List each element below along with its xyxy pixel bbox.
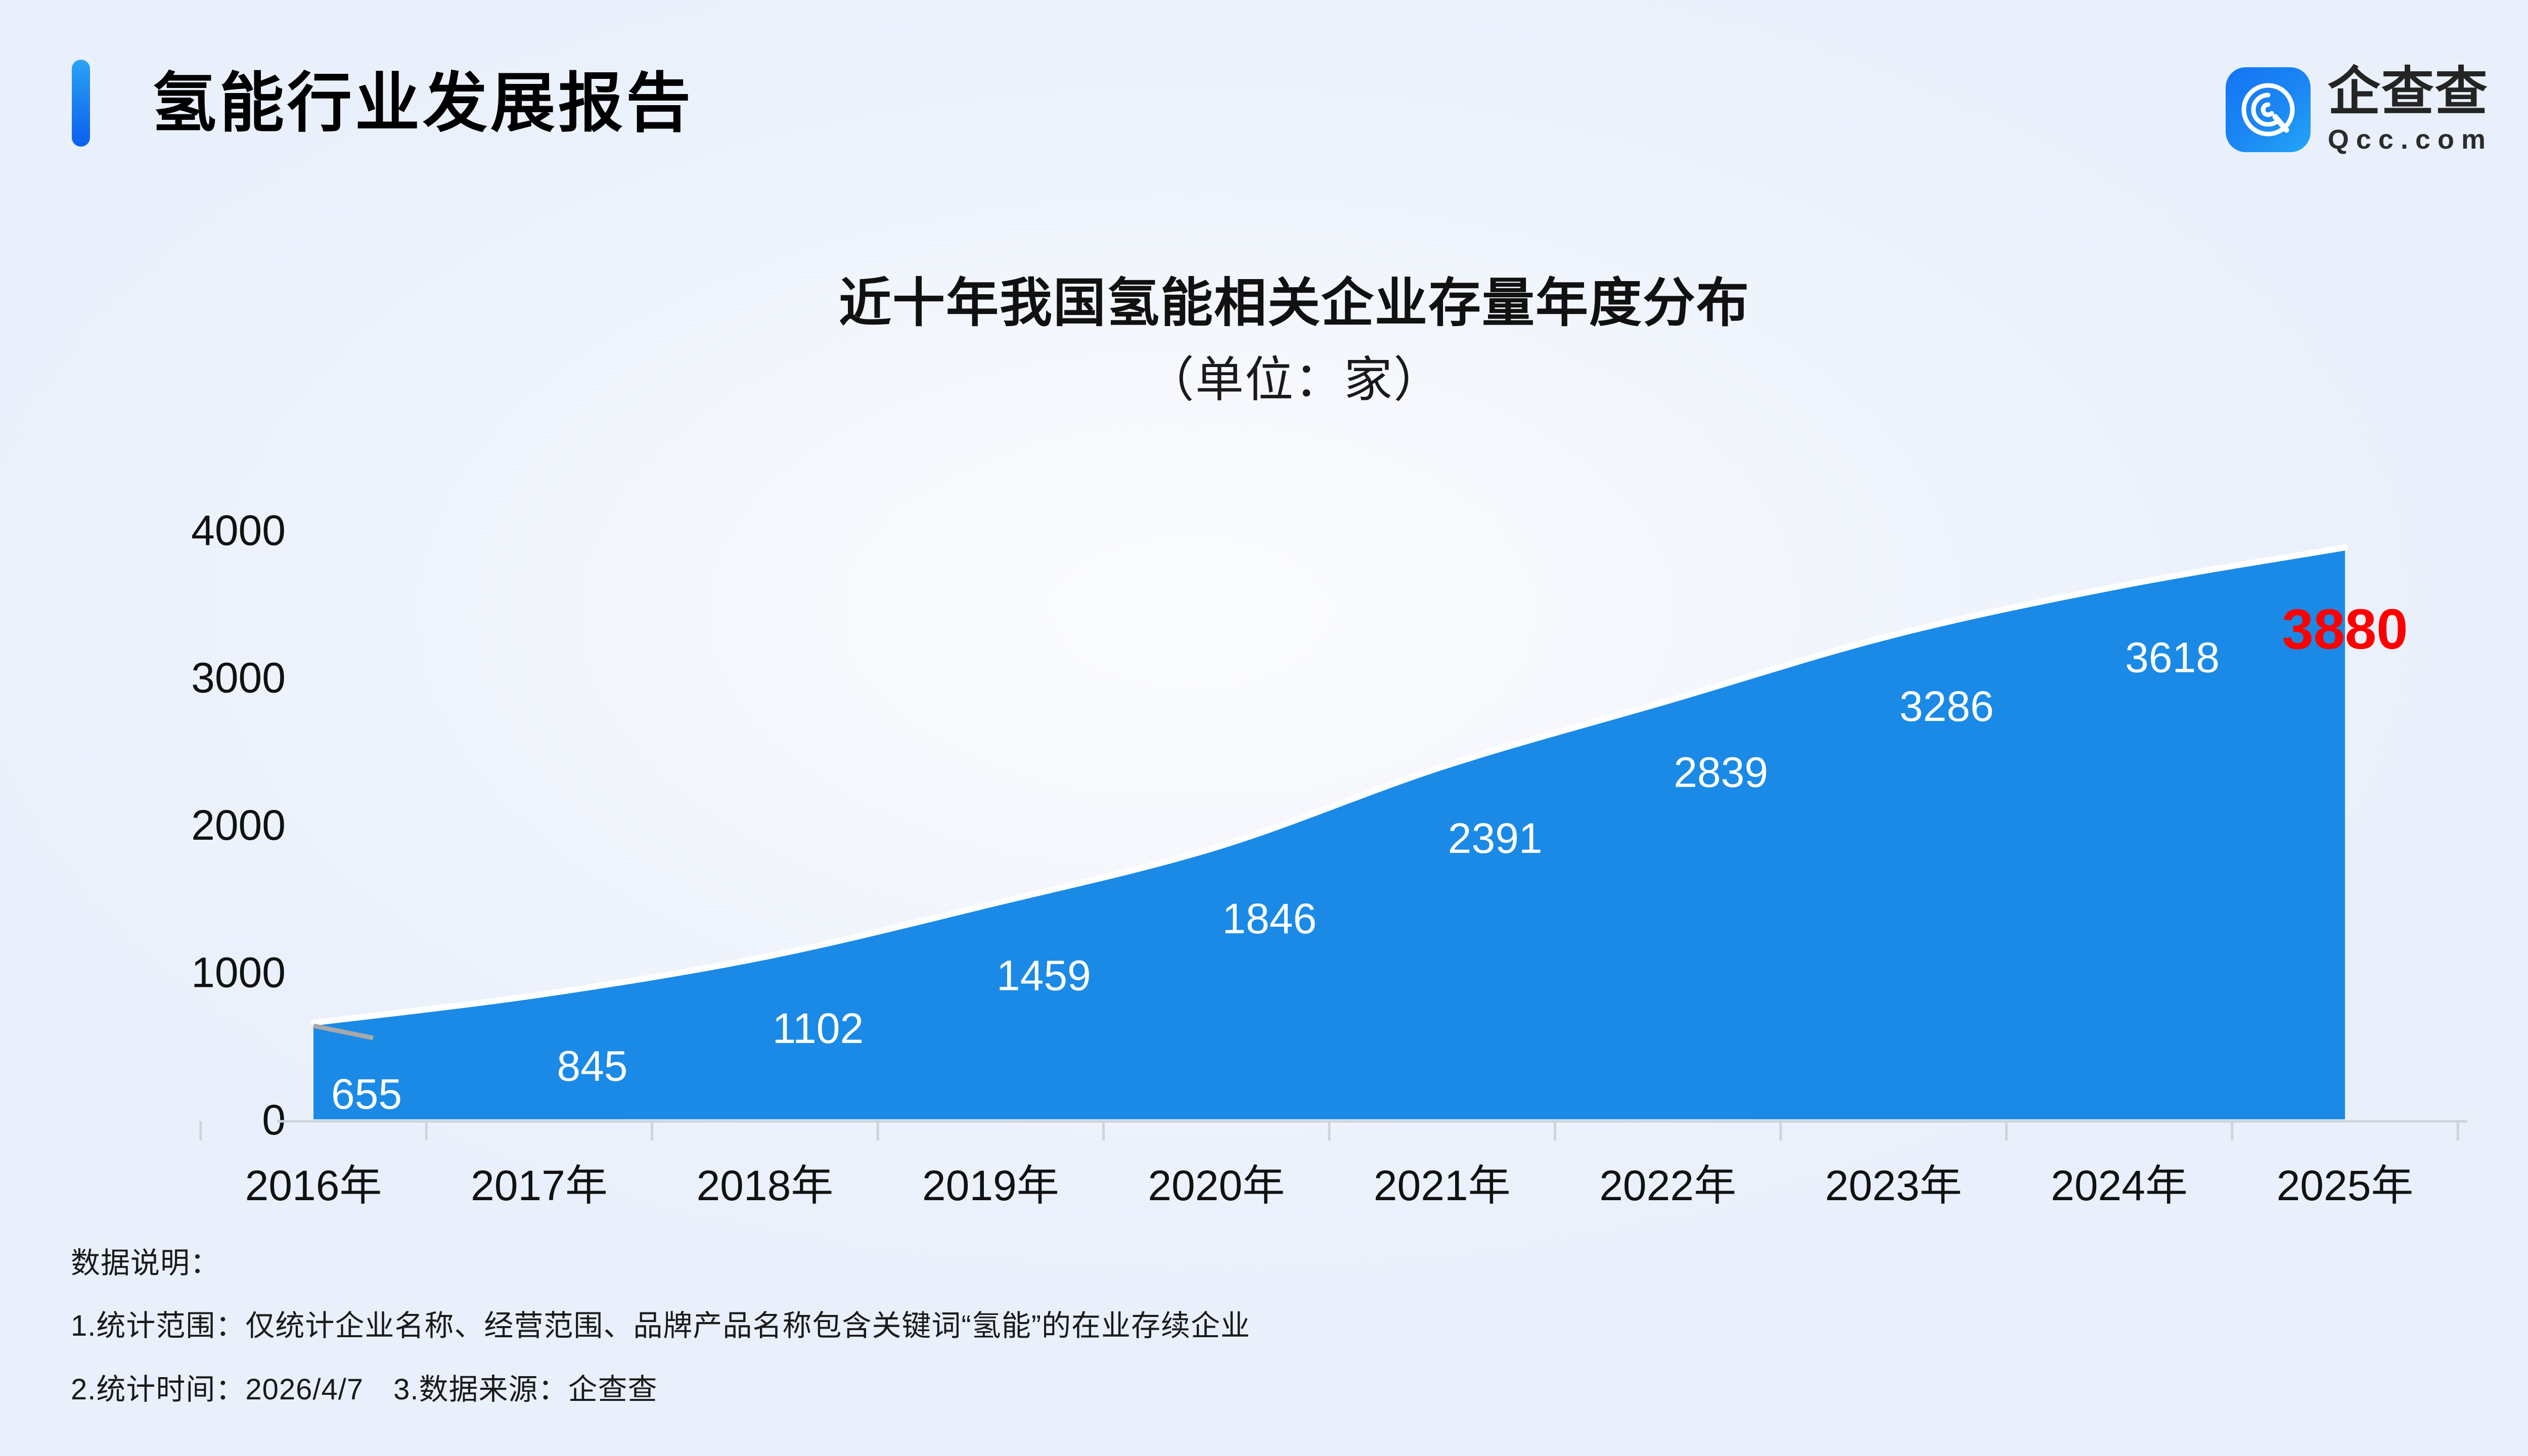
data-label: 845	[557, 1042, 627, 1090]
area-chart: 01000200030004000 2016年2017年2018年2019年20…	[0, 0, 2528, 1456]
y-axis-tick-label: 0	[262, 1096, 286, 1144]
footnote-heading: 数据说明：	[71, 1248, 2447, 1279]
footnote-line-1: 1.统计范围：仅统计企业名称、经营范围、品牌产品名称包含关键词“氢能”的在业存续…	[71, 1310, 2447, 1342]
y-axis-tick-label: 3000	[191, 654, 286, 702]
data-label: 655	[331, 1070, 402, 1118]
x-axis-tick-label: 2019年	[922, 1162, 1059, 1209]
data-label-highlight: 3880	[2282, 598, 2408, 661]
data-label: 1102	[773, 1005, 864, 1052]
x-axis-tick-label: 2016年	[245, 1162, 382, 1209]
y-axis-tick-label: 2000	[191, 801, 286, 849]
y-axis-tick-label: 4000	[191, 507, 286, 554]
x-axis-tick-label: 2022年	[1599, 1162, 1736, 1209]
x-axis-tick-label: 2021年	[1374, 1162, 1511, 1209]
area-fill	[313, 548, 2345, 1119]
footnotes: 数据说明： 1.统计范围：仅统计企业名称、经营范围、品牌产品名称包含关键词“氢能…	[71, 1248, 2447, 1405]
x-axis-tick-label: 2020年	[1148, 1162, 1285, 1209]
data-label: 3618	[2125, 633, 2220, 681]
x-axis-tick-label: 2024年	[2051, 1162, 2188, 1209]
data-label: 3286	[1900, 682, 1994, 730]
data-label: 2391	[1448, 814, 1543, 862]
data-label: 2839	[1674, 748, 1768, 796]
footnote-line-2: 2.统计时间：2026/4/7 3.数据来源：企查查	[71, 1374, 2447, 1405]
x-axis-tick-label: 2025年	[2277, 1162, 2414, 1209]
y-axis-tick-labels: 01000200030004000	[191, 507, 286, 1144]
report-page: 氢能行业发展报告 企查查 Qcc.com 近十年我国氢能相关企业存量年度分布 （…	[0, 0, 2528, 1456]
x-axis-tick-label: 2017年	[471, 1162, 608, 1209]
x-axis-line-and-ticks	[201, 1121, 2467, 1141]
x-axis-tick-label: 2023年	[1825, 1162, 1962, 1209]
x-axis-tick-labels: 2016年2017年2018年2019年2020年2021年2022年2023年…	[245, 1162, 2414, 1209]
data-label: 1846	[1222, 895, 1317, 942]
y-axis-tick-label: 1000	[191, 949, 286, 996]
data-label: 1459	[997, 952, 1091, 999]
area-series	[313, 548, 2345, 1119]
x-axis-tick-label: 2018年	[696, 1162, 833, 1209]
